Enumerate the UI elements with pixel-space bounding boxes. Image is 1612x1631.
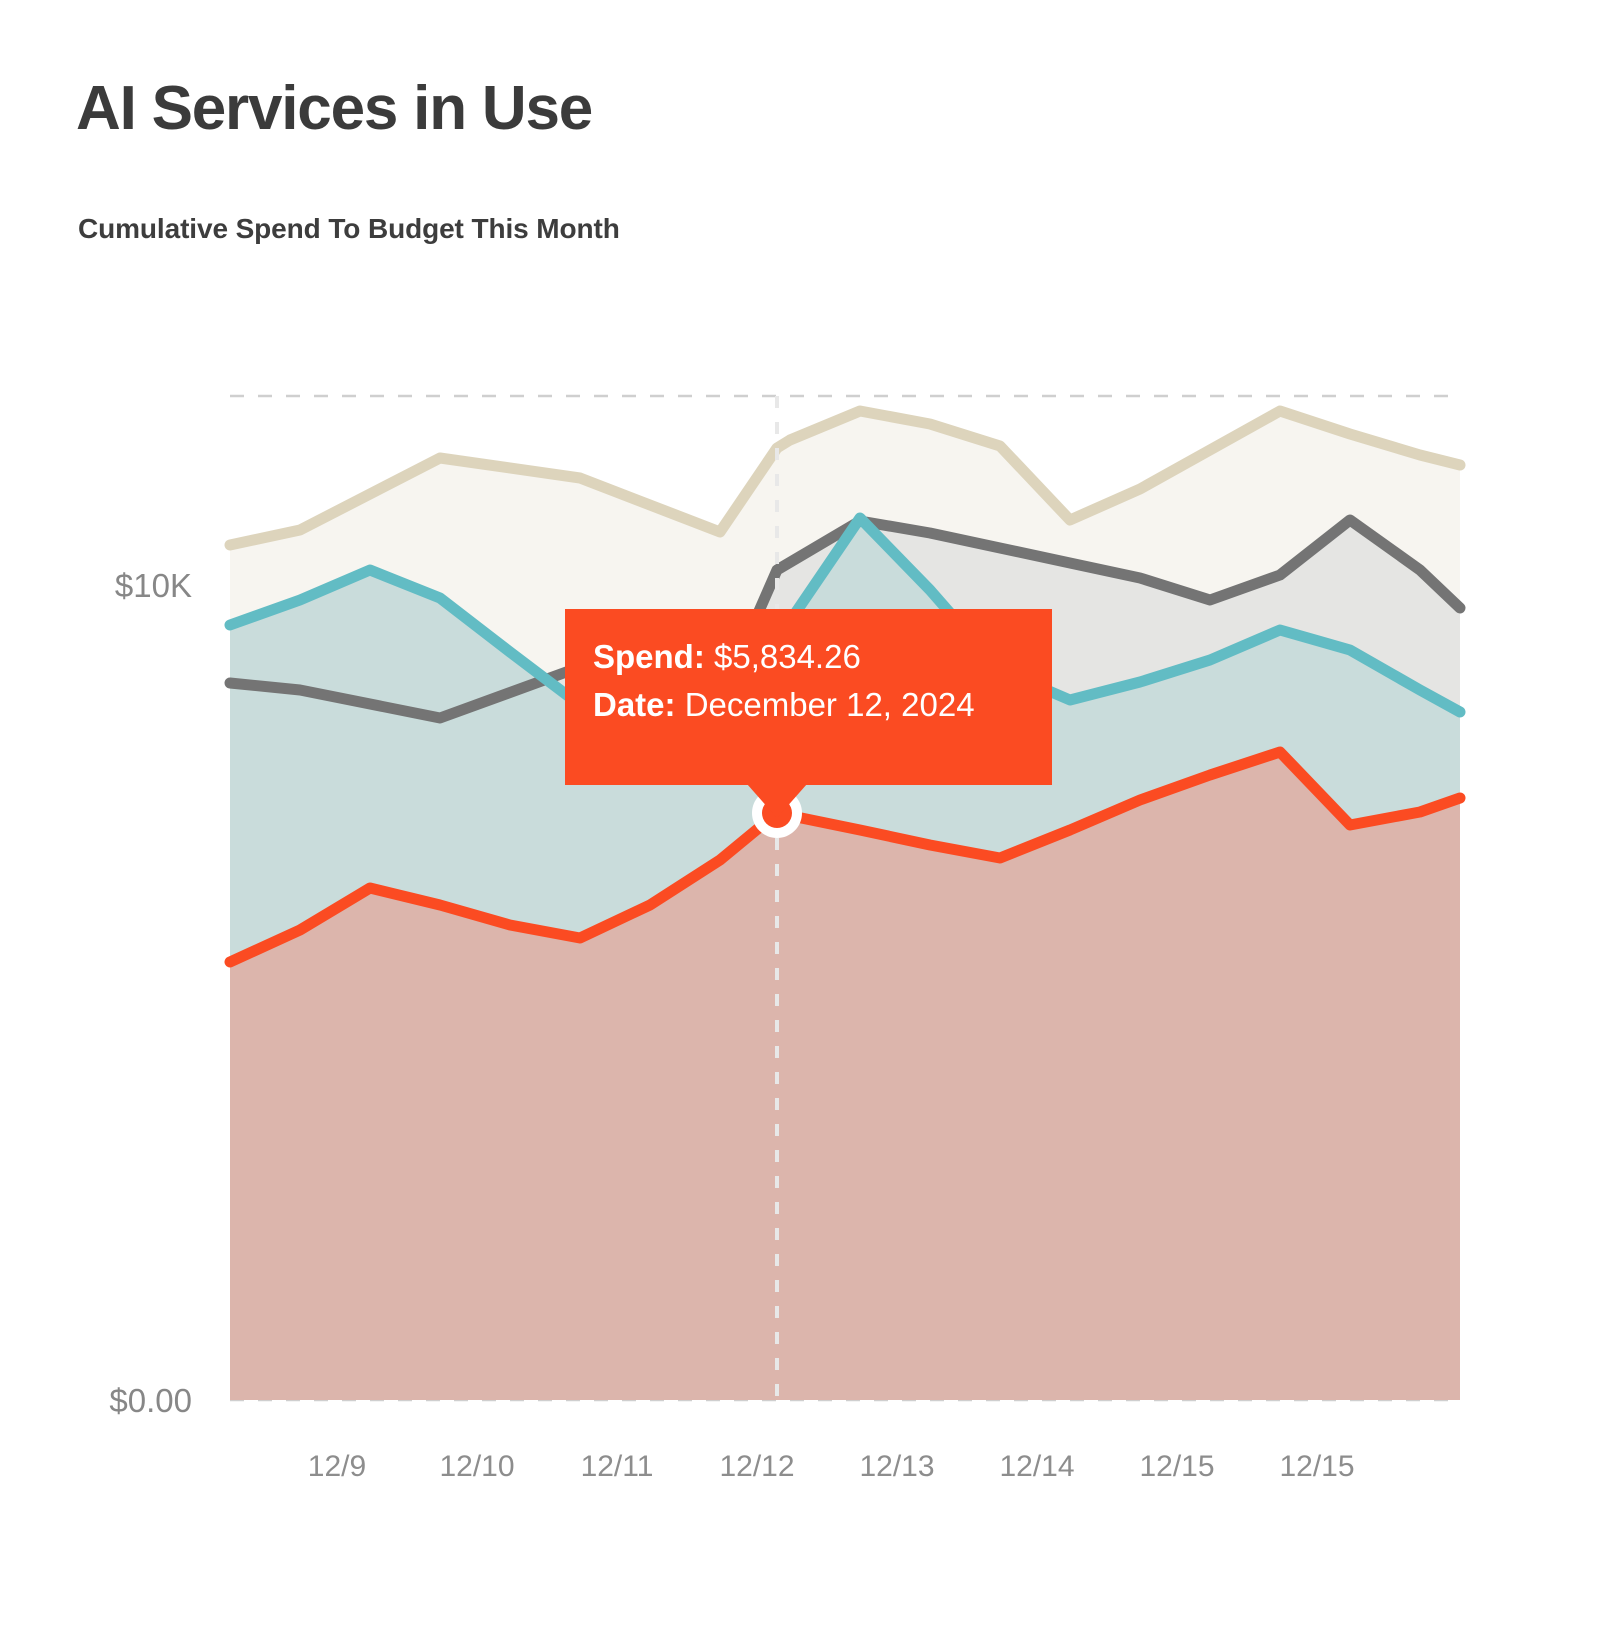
- chart-page: AI Services in Use Cumulative Spend To B…: [0, 0, 1612, 1631]
- tooltip-spend-value: $5,834.26: [714, 638, 861, 675]
- tooltip-arrow: [747, 784, 807, 818]
- x-tick-label-0: 12/9: [308, 1450, 366, 1483]
- x-tick-label-6: 12/15: [1139, 1450, 1214, 1483]
- tooltip-date-row: Date: December 12, 2024: [593, 681, 1024, 729]
- series-areas: [230, 411, 1460, 1400]
- x-tick-label-7: 12/15: [1279, 1450, 1354, 1483]
- y-tick-label-1: $0.00: [109, 1382, 192, 1419]
- tooltip: Spend: $5,834.26 Date: December 12, 2024: [565, 609, 1052, 785]
- y-axis-labels: $10K$0.00: [109, 567, 192, 1419]
- tooltip-spend-row: Spend: $5,834.26: [593, 633, 1024, 681]
- x-tick-label-2: 12/11: [581, 1450, 654, 1483]
- tooltip-date-label: Date:: [593, 686, 676, 723]
- x-tick-label-3: 12/12: [719, 1450, 794, 1483]
- tooltip-spend-label: Spend:: [593, 638, 705, 675]
- y-tick-label-0: $10K: [115, 567, 192, 604]
- x-tick-label-1: 12/10: [439, 1450, 514, 1483]
- x-tick-label-4: 12/13: [859, 1450, 934, 1483]
- x-axis-labels: 12/912/1012/1112/1212/1312/1412/1512/15: [308, 1450, 1355, 1483]
- tooltip-date-value: December 12, 2024: [685, 686, 975, 723]
- x-tick-label-5: 12/14: [999, 1450, 1074, 1483]
